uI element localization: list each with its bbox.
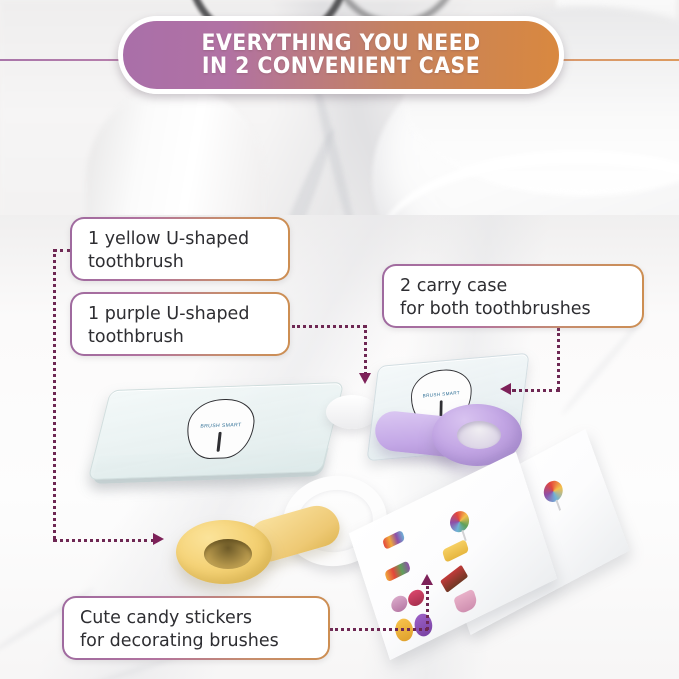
- callout-line1: 2 carry case: [400, 275, 628, 298]
- balloon-sticker: [412, 610, 435, 639]
- chocolate-sticker: [440, 565, 468, 593]
- macaron-sticker: [406, 587, 426, 609]
- banner-title-line1: EVERYTHING YOU NEED: [201, 32, 480, 55]
- arrow-up-icon: [421, 574, 433, 585]
- purple-toothbrush-opening: [457, 421, 501, 449]
- callout-line2: for both toothbrushes: [400, 298, 628, 321]
- lollipop-sticker: [541, 477, 566, 505]
- callout-line2: toothbrush: [88, 251, 274, 274]
- candy-sticker: [382, 530, 405, 550]
- header-banner: EVERYTHING YOU NEED IN 2 CONVENIENT CASE: [118, 16, 564, 94]
- callout-line1: 1 purple U-shaped: [88, 303, 274, 326]
- yellow-toothbrush-opening: [204, 539, 252, 569]
- callout-line2: toothbrush: [88, 326, 274, 349]
- macaron-sticker: [389, 593, 409, 615]
- arrow-down-icon: [359, 373, 371, 384]
- cupcake-sticker: [453, 589, 478, 616]
- arrow-right-icon: [153, 533, 164, 545]
- callout-line2: for decorating brushes: [80, 630, 314, 653]
- carry-case-left: BRUSH SMART: [88, 382, 345, 480]
- case-logo-text: BRUSH SMART: [423, 390, 460, 399]
- callout-line1: 1 yellow U-shaped: [88, 228, 274, 251]
- callout-yellow-toothbrush: 1 yellow U-shaped toothbrush: [70, 217, 290, 281]
- case-logo-text: BRUSH SMART: [200, 422, 242, 429]
- candy-sticker: [442, 539, 469, 563]
- callout-line1: Cute candy stickers: [80, 607, 314, 630]
- arrow-left-icon: [500, 383, 511, 395]
- callout-candy-stickers: Cute candy stickers for decorating brush…: [62, 596, 330, 660]
- callout-carry-case: 2 carry case for both toothbrushes: [382, 264, 644, 328]
- banner-title-line2: IN 2 CONVENIENT CASE: [201, 55, 480, 78]
- candy-sticker: [384, 560, 411, 582]
- tooth-logo-icon: BRUSH SMART: [184, 398, 257, 460]
- banner-title: EVERYTHING YOU NEED IN 2 CONVENIENT CASE: [201, 32, 480, 79]
- lollipop-sticker: [447, 508, 471, 536]
- callout-purple-toothbrush: 1 purple U-shaped toothbrush: [70, 292, 290, 356]
- product-infographic: BRUSH SMART BRUSH SMART: [0, 0, 679, 679]
